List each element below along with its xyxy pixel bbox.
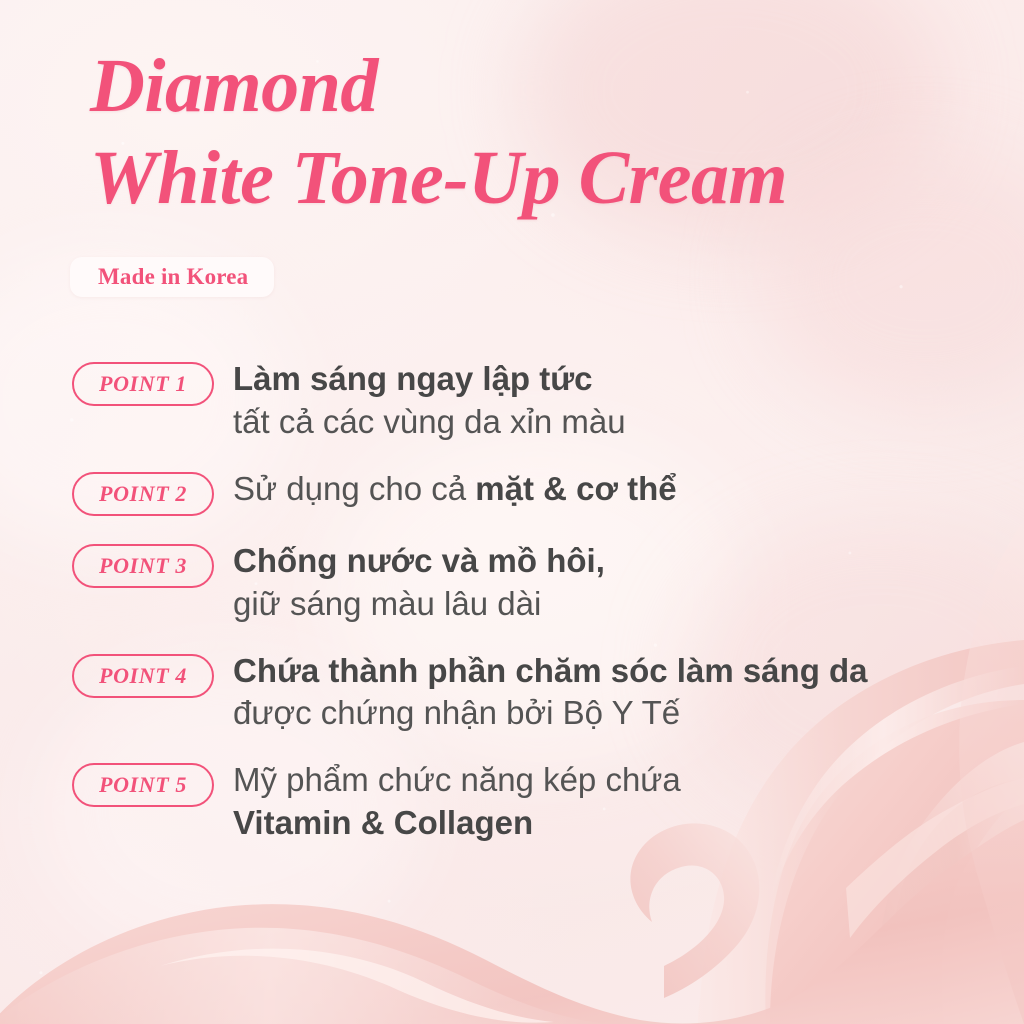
product-promo-poster: Diamond White Tone-Up Cream Made in Kore… [0,0,1024,1024]
point-line: Vitamin & Collagen [233,802,681,845]
point-text-5: Mỹ phẩm chức năng kép chứa Vitamin & Col… [233,759,681,845]
point-text-4: Chứa thành phần chăm sóc làm sáng da đượ… [233,650,868,736]
point-line: Làm sáng ngay lập tức [233,358,626,401]
point-row: POINT 3 Chống nước và mồ hôi, giữ sáng m… [72,540,972,626]
point-badge-1: POINT 1 [72,362,214,406]
point-badge-label: POINT 4 [99,663,187,689]
point-line: Sử dụng cho cả mặt & cơ thể [233,468,677,511]
point-row: POINT 4 Chứa thành phần chăm sóc làm sán… [72,650,972,736]
point-line: Chống nước và mồ hôi, [233,540,605,583]
made-in-korea-badge: Made in Korea [70,257,274,297]
point-badge-3: POINT 3 [72,544,214,588]
point-badge-label: POINT 1 [99,371,187,397]
point-line: giữ sáng màu lâu dài [233,583,605,626]
point-badge-label: POINT 2 [99,481,187,507]
made-in-korea-label: Made in Korea [98,264,248,290]
point-line-segment: mặt & cơ thể [475,470,676,507]
title-line-1: Diamond [90,48,970,124]
point-badge-4: POINT 4 [72,654,214,698]
point-badge-5: POINT 5 [72,763,214,807]
point-line: tất cả các vùng da xỉn màu [233,401,626,444]
point-line-segment: Sử dụng cho cả [233,470,475,507]
title-line-2: White Tone-Up Cream [90,140,970,216]
point-row: POINT 1 Làm sáng ngay lập tức tất cả các… [72,358,972,444]
point-row: POINT 5 Mỹ phẩm chức năng kép chứa Vitam… [72,759,972,845]
point-text-1: Làm sáng ngay lập tức tất cả các vùng da… [233,358,626,444]
point-badge-label: POINT 3 [99,553,187,579]
point-line: Mỹ phẩm chức năng kép chứa [233,759,681,802]
point-line: được chứng nhận bởi Bộ Y Tế [233,692,868,735]
point-row: POINT 2 Sử dụng cho cả mặt & cơ thể [72,468,972,516]
point-badge-2: POINT 2 [72,472,214,516]
feature-points-list: POINT 1 Làm sáng ngay lập tức tất cả các… [72,358,972,845]
point-badge-label: POINT 5 [99,772,187,798]
point-line: Chứa thành phần chăm sóc làm sáng da [233,650,868,693]
point-text-3: Chống nước và mồ hôi, giữ sáng màu lâu d… [233,540,605,626]
point-text-2: Sử dụng cho cả mặt & cơ thể [233,468,677,511]
product-title: Diamond White Tone-Up Cream [90,48,970,216]
